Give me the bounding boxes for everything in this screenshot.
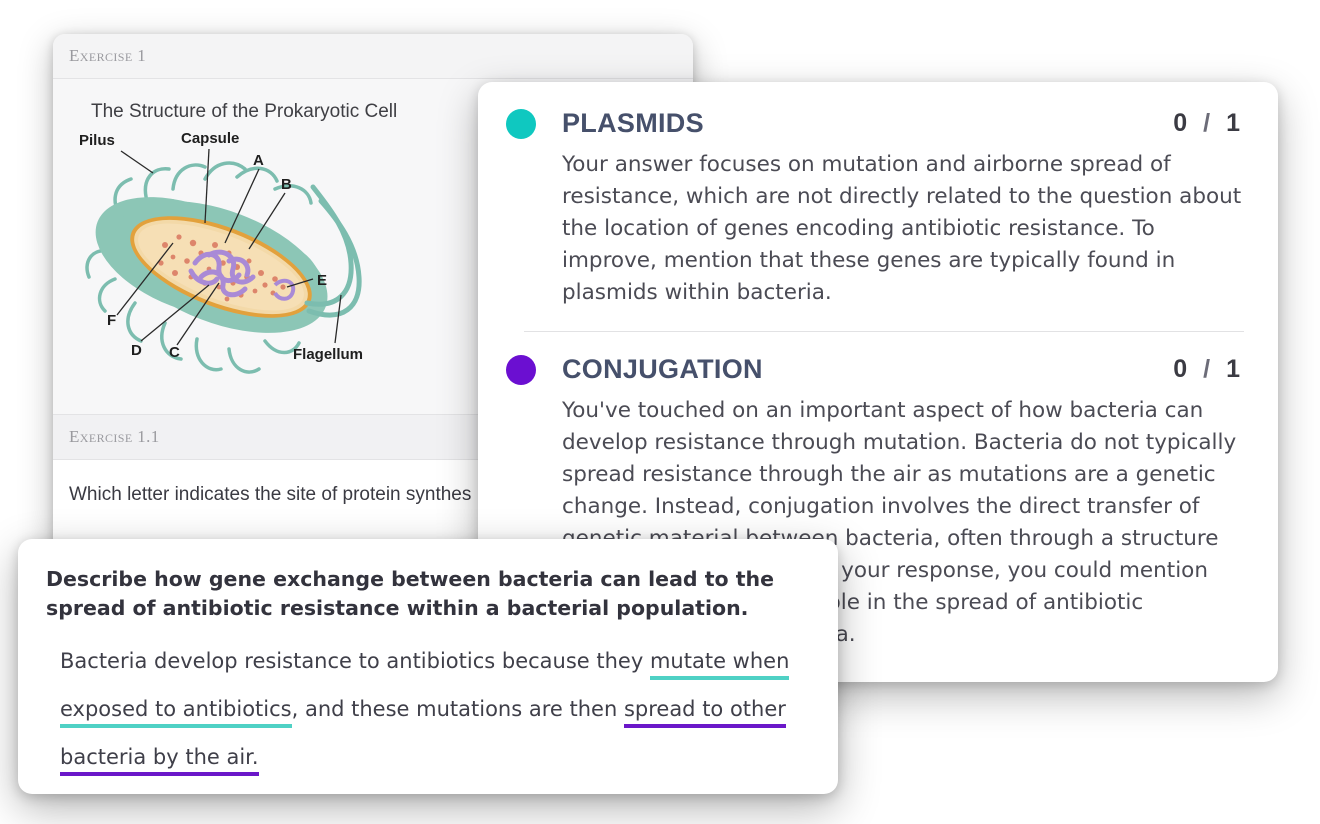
exercise-subheader-label: Exercise 1.1 bbox=[69, 427, 160, 447]
answer-part-plain: , and these mutations are then bbox=[292, 697, 624, 721]
diagram-label-d: D bbox=[131, 342, 142, 359]
feedback-divider bbox=[524, 331, 1244, 332]
plasmids-score: 0 / 1 bbox=[1173, 109, 1244, 138]
conjugation-title: CONJUGATION bbox=[562, 354, 1173, 385]
prokaryotic-cell-diagram: Pilus Capsule A B E F D C Flagellum bbox=[69, 127, 489, 392]
diagram-label-capsule: Capsule bbox=[181, 130, 239, 147]
answer-question-text: Describe how gene exchange between bacte… bbox=[46, 565, 806, 623]
diagram-label-a: A bbox=[253, 152, 264, 169]
diagram-label-e: E bbox=[317, 272, 327, 289]
screenshot-stage: Exercise 1 The Structure of the Prokaryo… bbox=[0, 0, 1320, 824]
plasmids-title: PLASMIDS bbox=[562, 108, 1173, 139]
plasmids-score-value: 0 bbox=[1173, 109, 1187, 138]
plasmids-feedback-text: Your answer focuses on mutation and airb… bbox=[562, 149, 1244, 309]
diagram-label-c: C bbox=[169, 344, 180, 361]
diagram-label-flagellum: Flagellum bbox=[293, 346, 363, 363]
feedback-section-header: PLASMIDS 0 / 1 bbox=[506, 108, 1244, 139]
conjugation-score-total: 1 bbox=[1226, 355, 1240, 384]
conjugation-score: 0 / 1 bbox=[1173, 355, 1244, 384]
feedback-section-plasmids: PLASMIDS 0 / 1 Your answer focuses on mu… bbox=[506, 108, 1244, 309]
plasmids-score-total: 1 bbox=[1226, 109, 1240, 138]
conjugation-status-dot-icon bbox=[506, 355, 536, 385]
plasmids-score-separator: / bbox=[1203, 109, 1210, 138]
answer-card: Describe how gene exchange between bacte… bbox=[18, 539, 838, 794]
diagram-label-b: B bbox=[281, 176, 292, 193]
conjugation-score-value: 0 bbox=[1173, 355, 1187, 384]
answer-part-plain: Bacteria develop resistance to antibioti… bbox=[60, 649, 650, 673]
exercise-header-label: Exercise 1 bbox=[69, 46, 146, 66]
bacteria-illustration-svg: Pilus Capsule A B E F D C Flagellum bbox=[69, 127, 489, 392]
student-answer-text: Bacteria develop resistance to antibioti… bbox=[60, 637, 800, 781]
feedback-section-header: CONJUGATION 0 / 1 bbox=[506, 354, 1244, 385]
plasmids-status-dot-icon bbox=[506, 109, 536, 139]
diagram-label-f: F bbox=[107, 312, 116, 329]
exercise-header: Exercise 1 bbox=[53, 34, 693, 79]
diagram-label-pilus: Pilus bbox=[79, 132, 115, 149]
conjugation-score-separator: / bbox=[1203, 355, 1210, 384]
